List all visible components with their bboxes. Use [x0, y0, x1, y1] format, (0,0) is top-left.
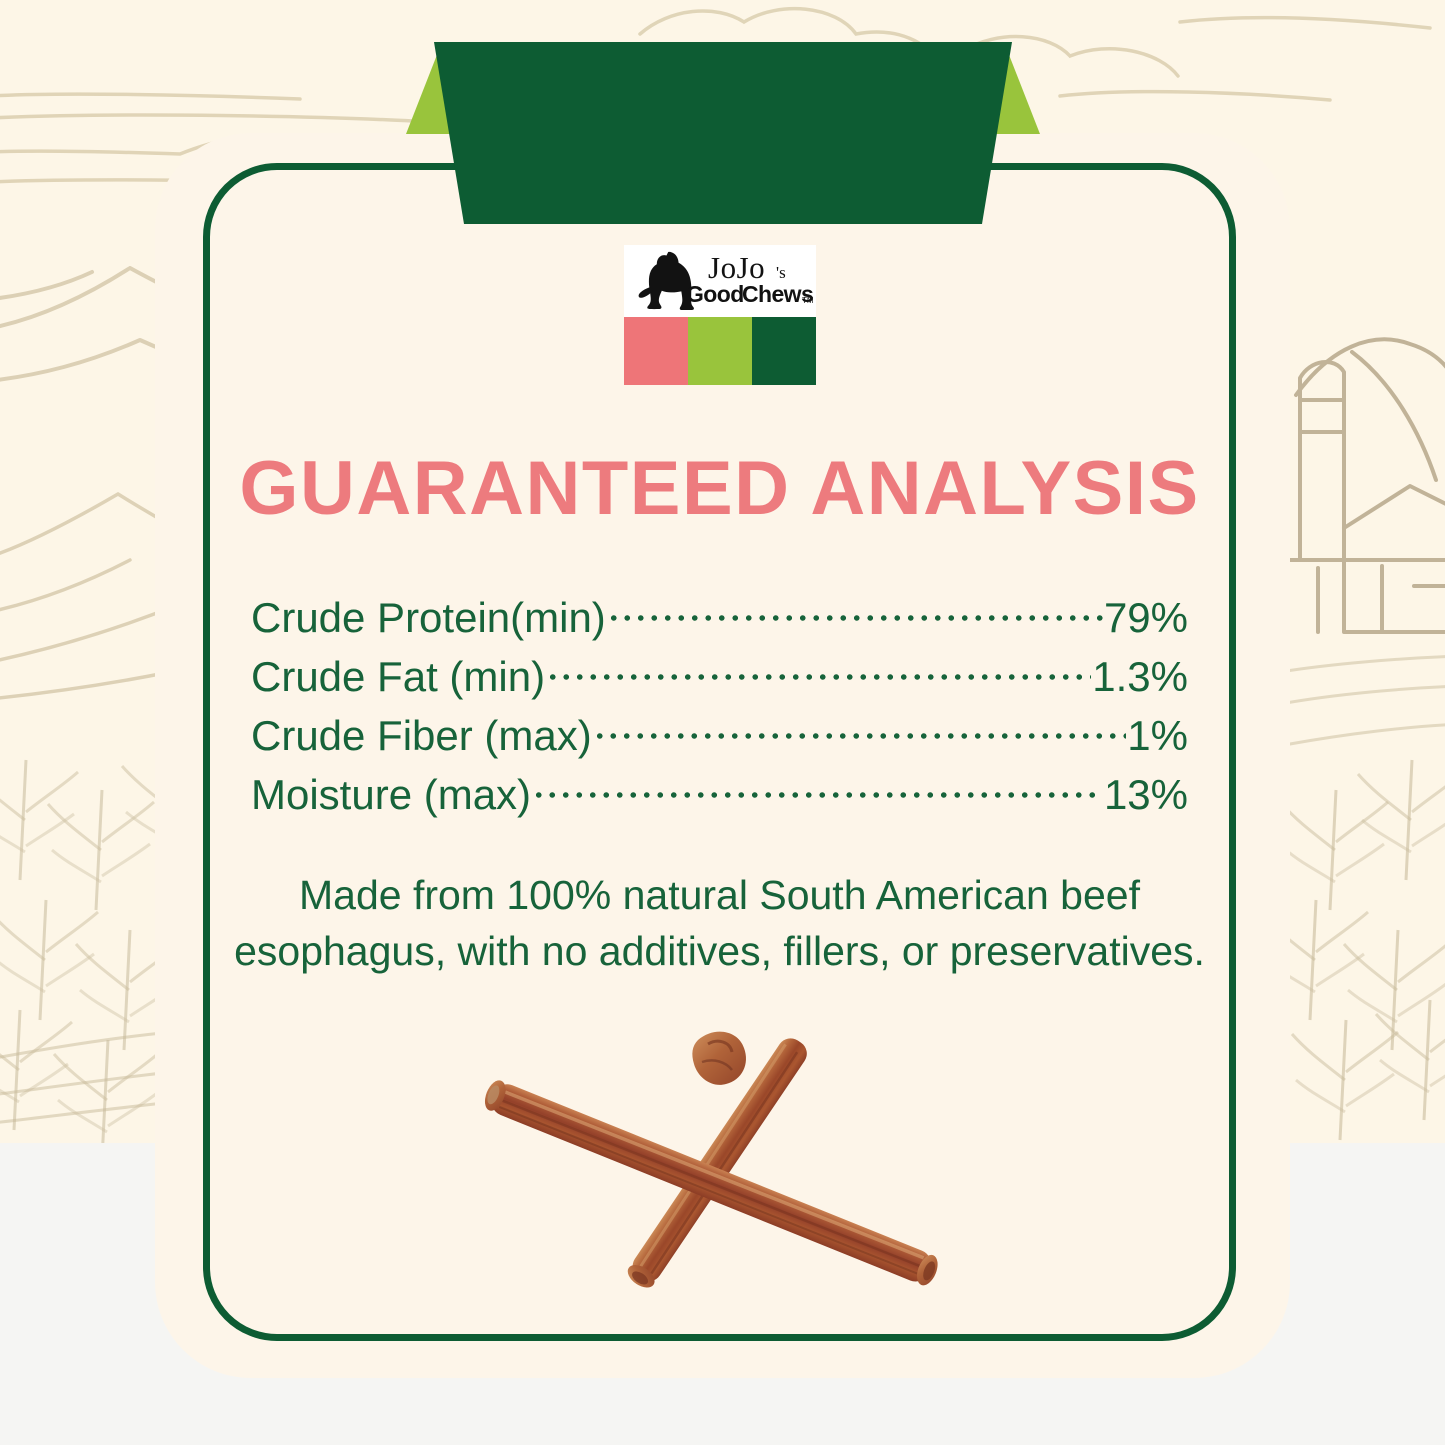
swatch-dark-green: [752, 317, 816, 385]
brand-color-swatches: [624, 317, 816, 385]
dot-leader: [546, 649, 1091, 691]
analysis-value: 1%: [1127, 706, 1188, 765]
analysis-value: 1.3%: [1092, 647, 1188, 706]
analysis-label: Moisture (max): [251, 765, 531, 824]
analysis-row: Crude Protein(min) 79%: [251, 588, 1188, 647]
chew-stick-front: [480, 1077, 941, 1288]
brand-logo: JoJo 's Good Chews TM: [624, 245, 816, 385]
svg-text:Good: Good: [686, 281, 744, 307]
product-info-graphic: JoJo 's Good Chews TM GUARANTEED ANA: [0, 0, 1445, 1445]
chew-stick-knot-end: [692, 1032, 746, 1085]
dot-leader: [607, 590, 1103, 632]
description-line-1: Made from 100% natural South American be…: [223, 867, 1216, 923]
description-line-2: esophagus, with no additives, fillers, o…: [223, 923, 1216, 979]
svg-text:TM: TM: [802, 296, 814, 305]
guaranteed-analysis-list: Crude Protein(min) 79% Crude Fat (min) 1…: [251, 588, 1188, 824]
brand-wordmark-goodchews: Good Chews TM: [686, 281, 814, 307]
swatch-lime: [688, 317, 752, 385]
svg-text:JoJo: JoJo: [708, 250, 765, 285]
analysis-value: 79%: [1104, 588, 1188, 647]
card-content: JoJo 's Good Chews TM GUARANTEED ANA: [203, 163, 1236, 1341]
svg-text:'s: 's: [776, 263, 786, 282]
dot-leader: [532, 767, 1103, 809]
analysis-label: Crude Protein(min): [251, 588, 606, 647]
analysis-label: Crude Fiber (max): [251, 706, 592, 765]
analysis-value: 13%: [1104, 765, 1188, 824]
analysis-row: Crude Fat (min) 1.3%: [251, 647, 1188, 706]
analysis-row: Crude Fiber (max) 1%: [251, 706, 1188, 765]
brand-logo-mark: JoJo 's Good Chews TM: [624, 245, 816, 317]
page-title: GUARANTEED ANALYSIS: [203, 451, 1236, 527]
dot-leader: [593, 708, 1127, 750]
analysis-label: Crude Fat (min): [251, 647, 545, 706]
crossed-beef-esophagus-sticks-image: [430, 1018, 1010, 1308]
analysis-row: Moisture (max) 13%: [251, 765, 1188, 824]
swatch-coral: [624, 317, 688, 385]
product-description: Made from 100% natural South American be…: [223, 867, 1216, 979]
